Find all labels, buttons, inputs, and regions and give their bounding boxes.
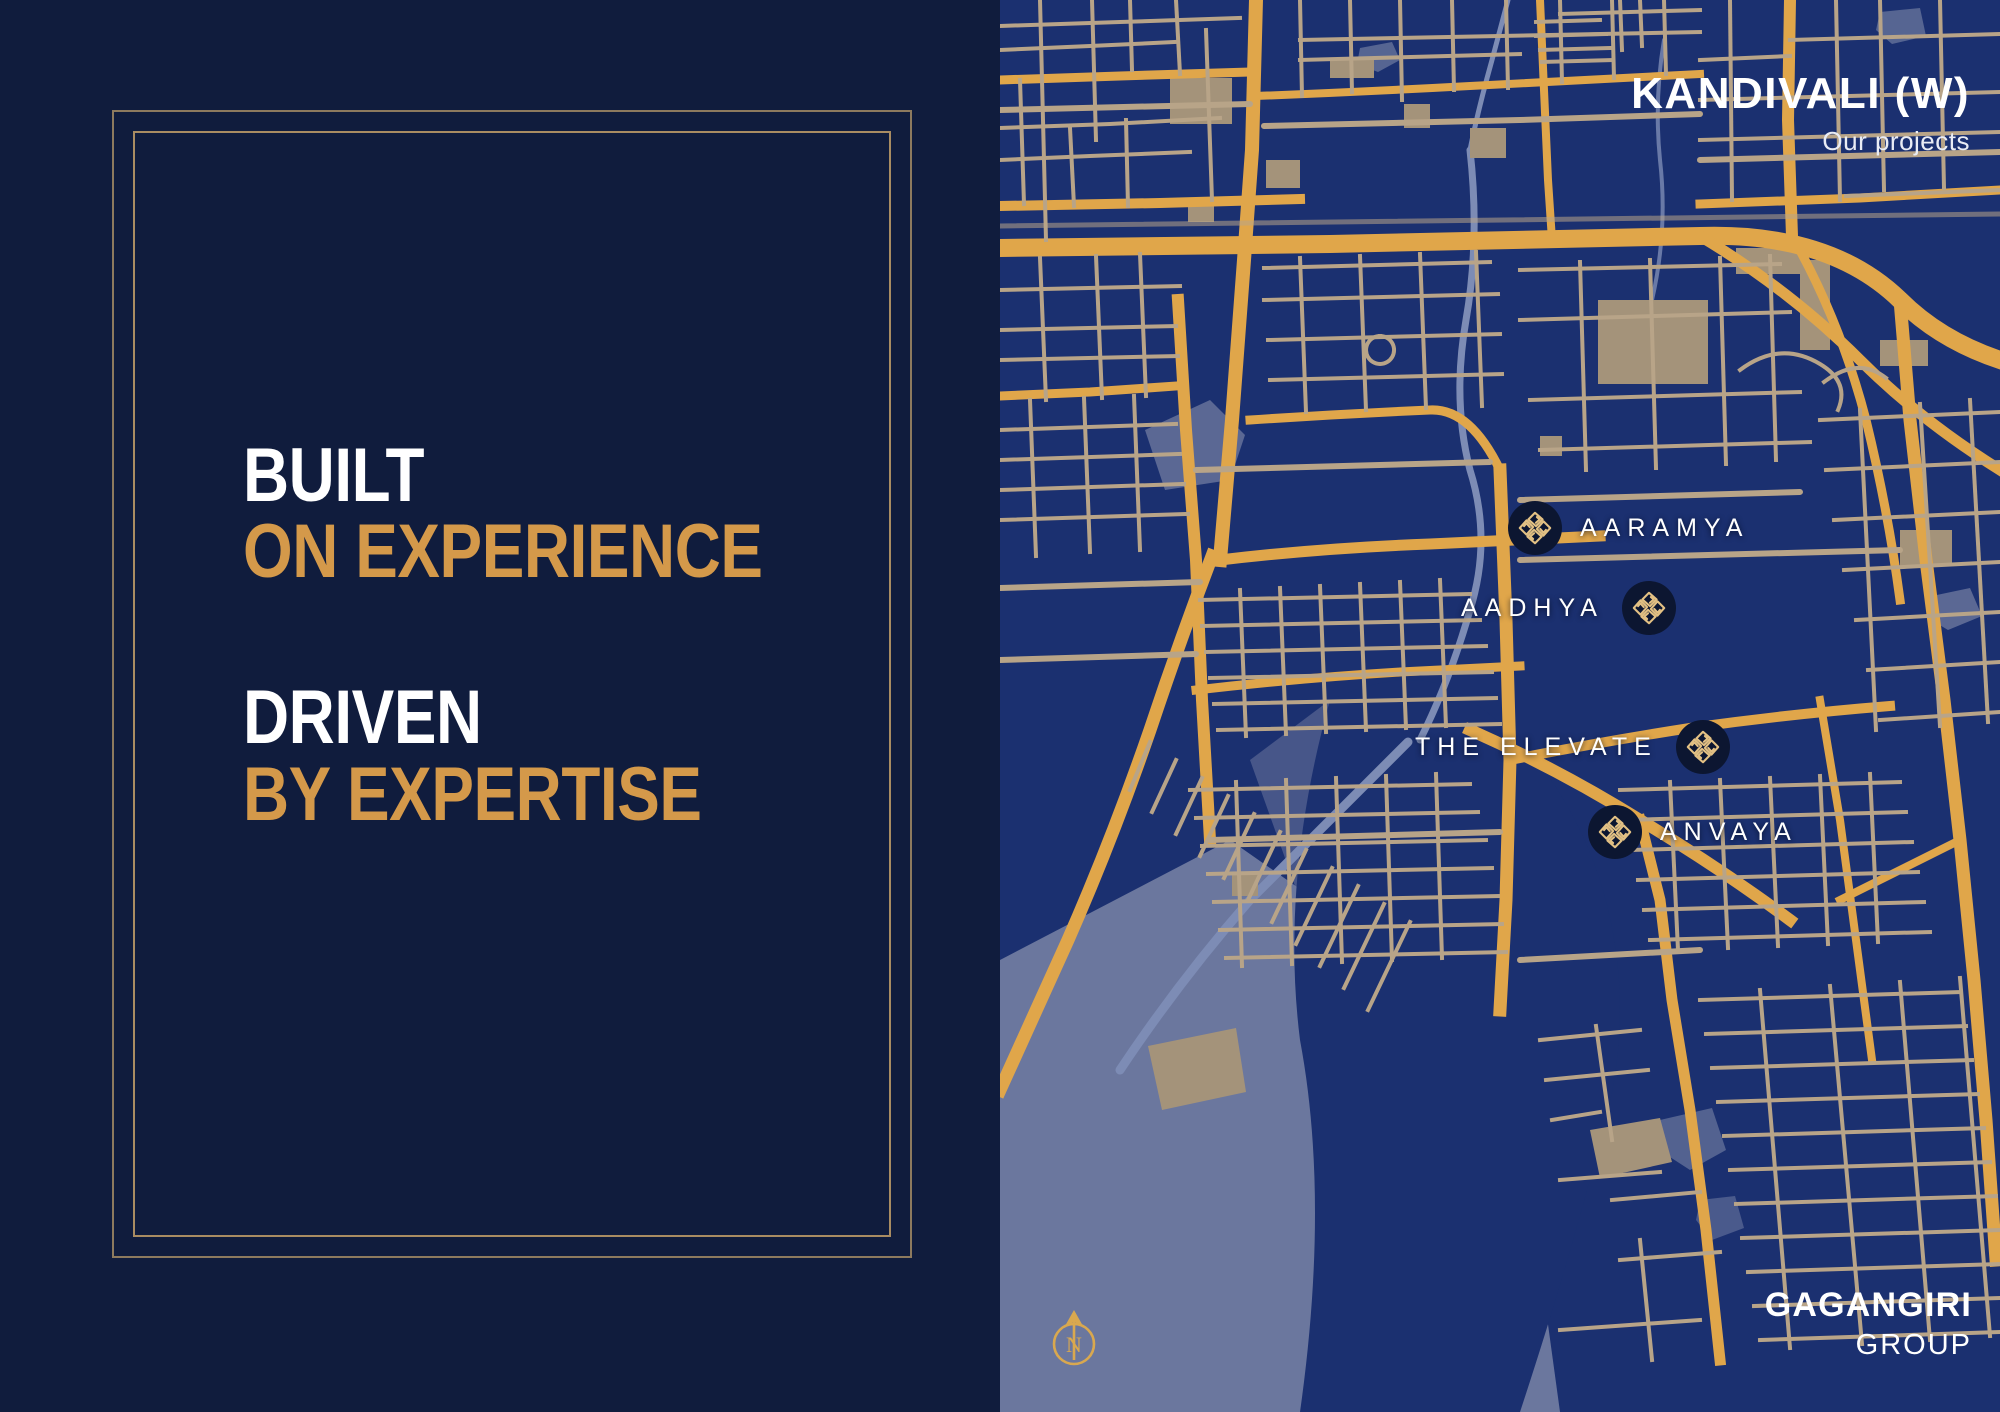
headline-line-2: ON EXPERIENCE xyxy=(243,516,781,588)
street-map-graphic xyxy=(1000,0,2000,1412)
poster-root: BUILT ON EXPERIENCE DRIVEN BY EXPERTISE xyxy=(0,0,2000,1412)
brand-subtitle: GROUP xyxy=(1765,1331,1972,1360)
gagangiri-logo-icon xyxy=(1596,813,1634,851)
headline-block: BUILT ON EXPERIENCE DRIVEN BY EXPERTISE xyxy=(243,440,883,831)
project-marker-label: AADHYA xyxy=(1461,594,1604,623)
project-marker-pin[interactable] xyxy=(1508,501,1562,555)
project-marker-label: ANVAYA xyxy=(1660,818,1798,847)
map-subtitle: Our projects xyxy=(1631,128,1970,154)
map-panel[interactable]: KANDIVALI (W) Our projects AARAMYA AADHY… xyxy=(1000,0,2000,1412)
project-marker-pin[interactable] xyxy=(1622,581,1676,635)
headline-spacer xyxy=(243,588,883,682)
map-title-block: KANDIVALI (W) Our projects xyxy=(1631,72,1970,154)
headline-line-1: BUILT xyxy=(243,440,781,512)
project-marker[interactable]: THE ELEVATE xyxy=(1415,720,1730,774)
left-headline-panel: BUILT ON EXPERIENCE DRIVEN BY EXPERTISE xyxy=(0,0,1000,1412)
map-title: KANDIVALI (W) xyxy=(1631,72,1970,116)
brand-name: GAGANGIRI xyxy=(1765,1288,1972,1322)
gagangiri-logo-icon xyxy=(1516,509,1554,547)
compass-rose: N xyxy=(1042,1302,1106,1370)
brand-block: GAGANGIRI GROUP xyxy=(1765,1288,1972,1360)
headline-line-3: DRIVEN xyxy=(243,682,781,754)
project-marker-pin[interactable] xyxy=(1676,720,1730,774)
headline-line-4: BY EXPERTISE xyxy=(243,759,781,831)
compass-icon: N xyxy=(1042,1302,1106,1370)
project-marker[interactable]: AADHYA xyxy=(1461,581,1676,635)
gagangiri-logo-icon xyxy=(1630,589,1668,627)
project-marker[interactable]: ANVAYA xyxy=(1588,805,1798,859)
project-marker-label: THE ELEVATE xyxy=(1415,733,1658,762)
project-marker-label: AARAMYA xyxy=(1580,514,1749,543)
project-marker[interactable]: AARAMYA xyxy=(1508,501,1749,555)
svg-text:N: N xyxy=(1066,1332,1082,1357)
project-marker-pin[interactable] xyxy=(1588,805,1642,859)
gagangiri-logo-icon xyxy=(1684,728,1722,766)
